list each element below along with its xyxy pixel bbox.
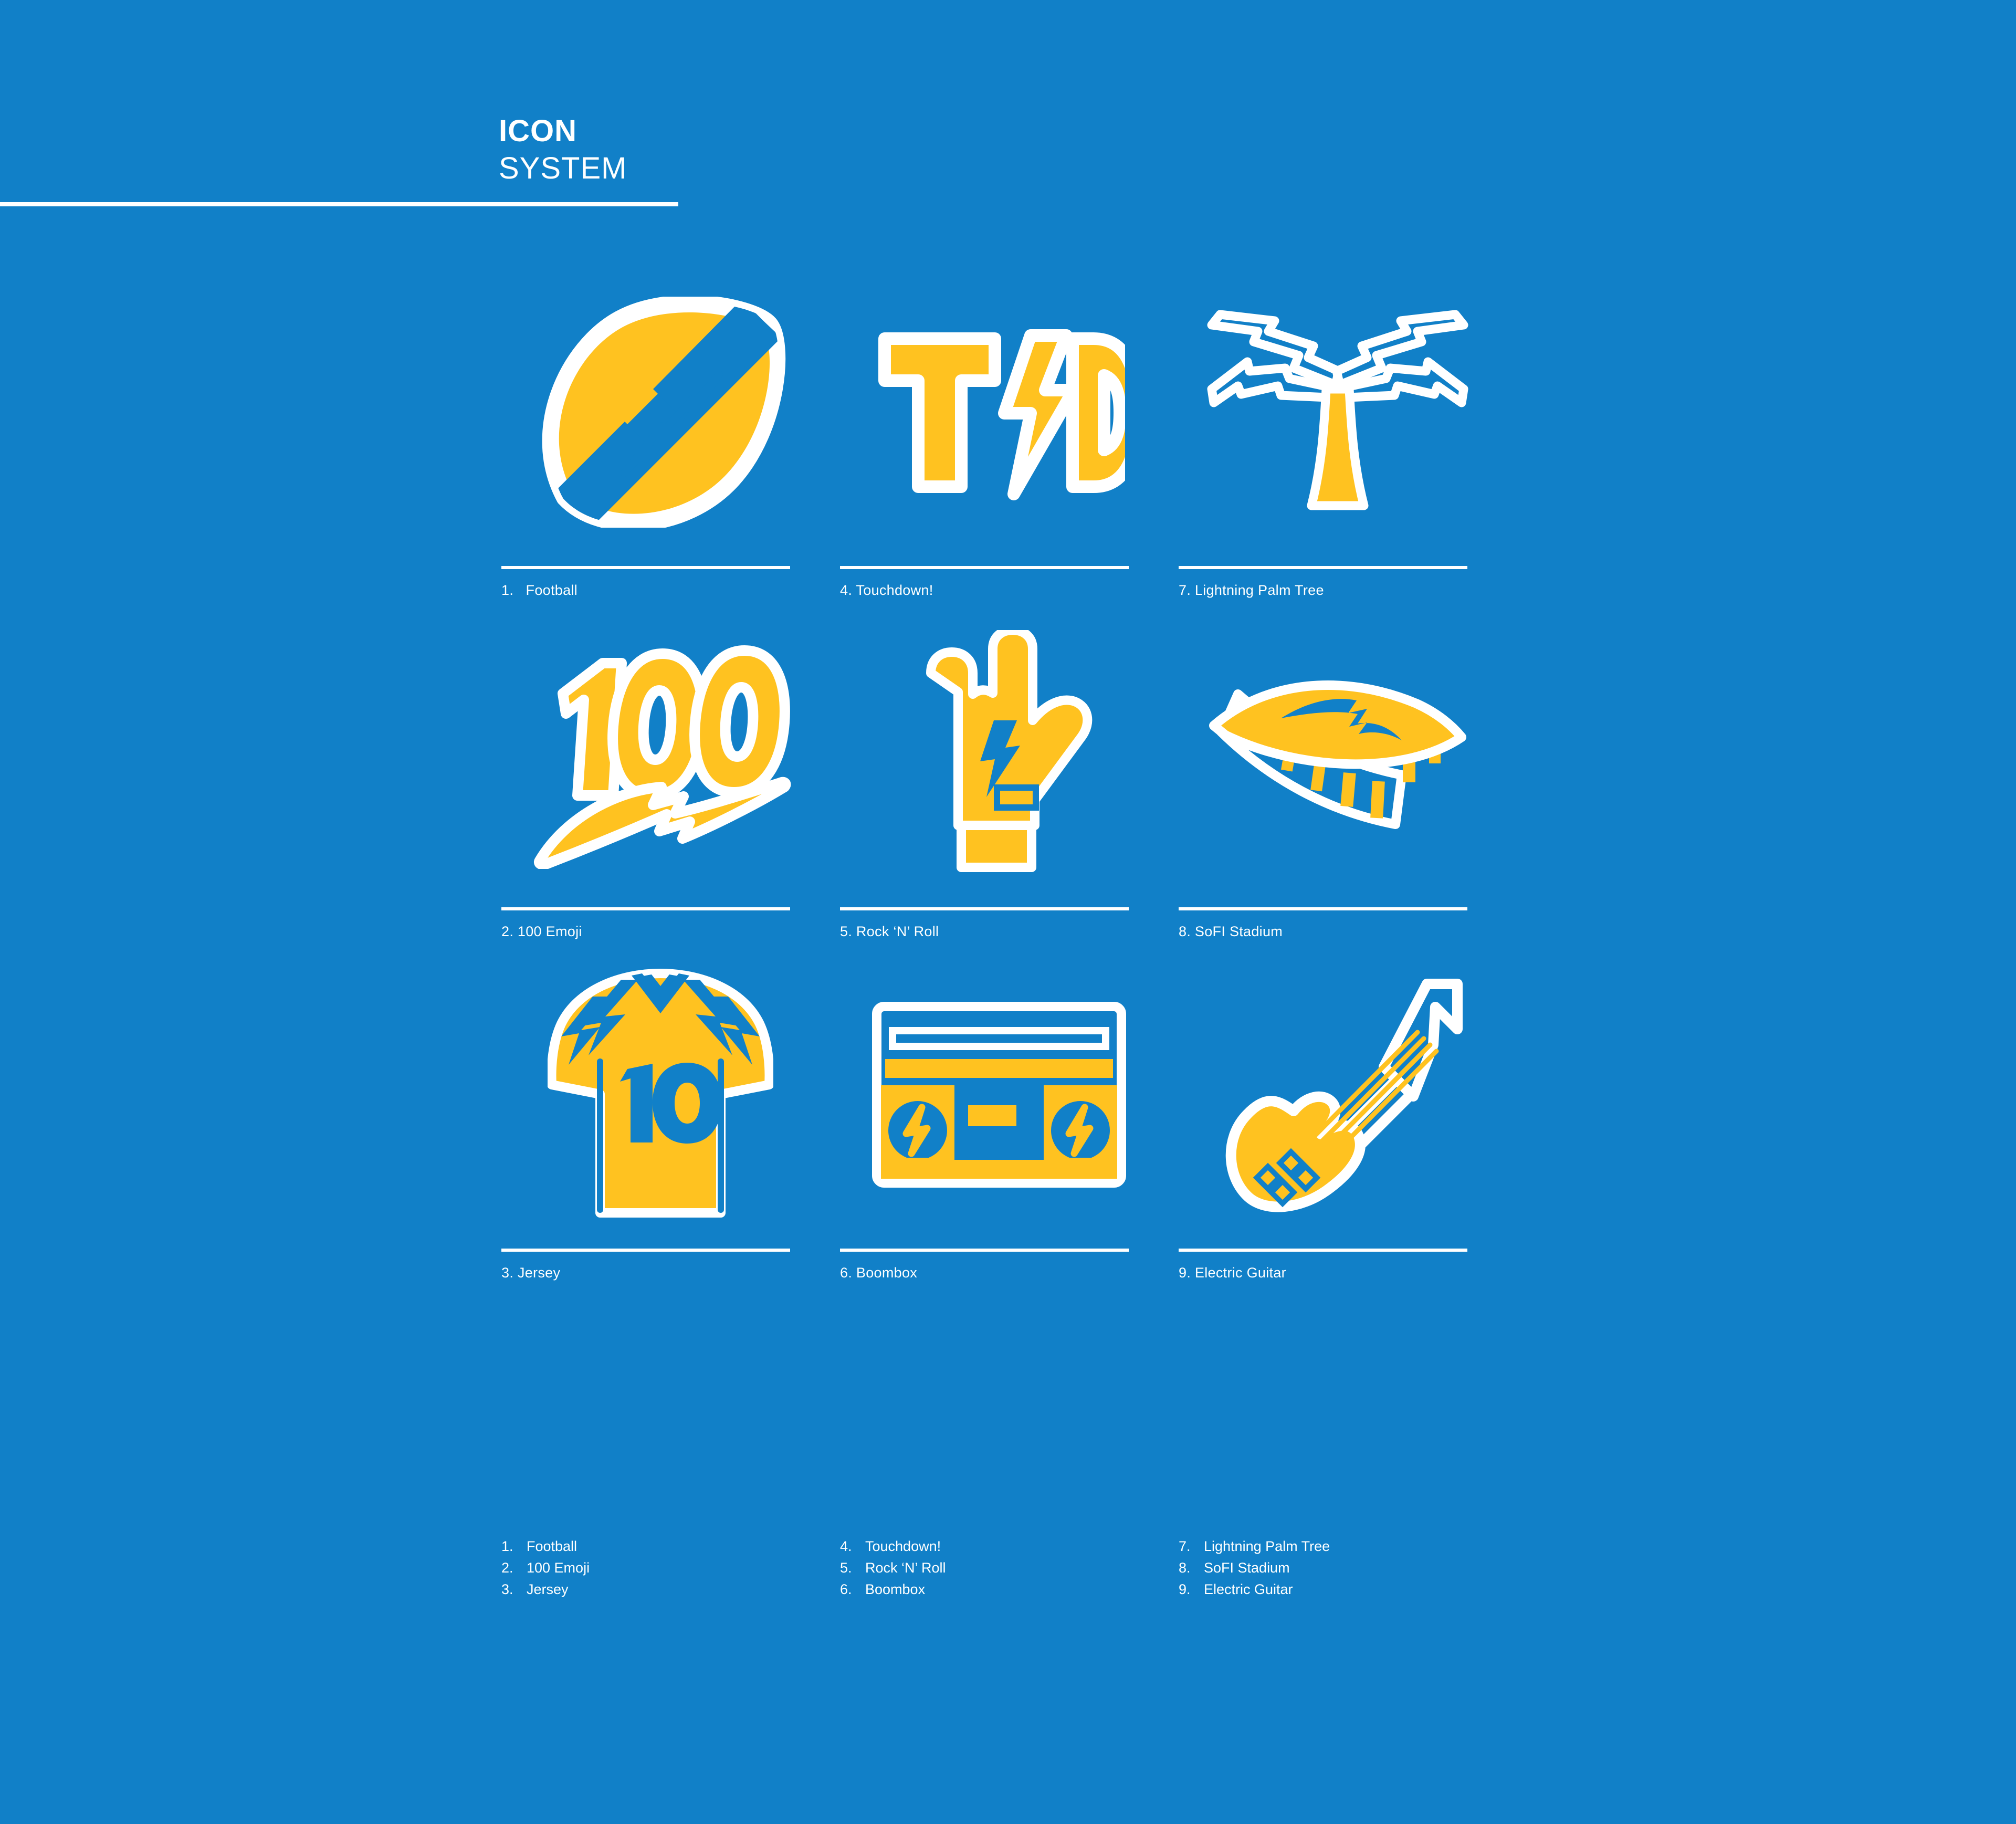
legend-number: 5. bbox=[840, 1557, 865, 1579]
legend-item: 3. Jersey bbox=[501, 1579, 840, 1600]
legend-number: 9. bbox=[1179, 1579, 1204, 1600]
legend-item: 7. Lightning Palm Tree bbox=[1179, 1536, 1517, 1557]
legend-label: Boombox bbox=[865, 1579, 1179, 1600]
icon-label-rock-n-roll: 5. Rock ‘N’ Roll bbox=[840, 924, 939, 940]
legend-label: 100 Emoji bbox=[527, 1557, 840, 1579]
legend-label: Touchdown! bbox=[865, 1536, 1179, 1557]
legend-item: 6. Boombox bbox=[840, 1579, 1179, 1600]
cell-divider bbox=[840, 566, 1129, 569]
icon-label-sofi-stadium: 8. SoFI Stadium bbox=[1179, 924, 1283, 940]
sofi-stadium-icon bbox=[1179, 614, 1496, 893]
icon-label-touchdown: 4. Touchdown! bbox=[840, 582, 933, 599]
legend-number: 4. bbox=[840, 1536, 865, 1557]
legend-number: 2. bbox=[501, 1557, 527, 1579]
legend-label: Jersey bbox=[527, 1579, 840, 1600]
header-divider bbox=[0, 202, 678, 206]
jersey-icon bbox=[501, 956, 819, 1234]
page-header: ICON SYSTEM bbox=[499, 113, 627, 187]
legend-label: Lightning Palm Tree bbox=[1204, 1536, 1517, 1557]
legend-number: 8. bbox=[1179, 1557, 1204, 1579]
icon-cell-boombox[interactable]: 6. Boombox bbox=[840, 956, 1158, 1292]
legend-number: 1. bbox=[501, 1536, 527, 1557]
cell-divider bbox=[1179, 907, 1467, 910]
cell-divider bbox=[501, 1249, 790, 1252]
legend-number: 6. bbox=[840, 1579, 865, 1600]
cell-divider bbox=[1179, 566, 1467, 569]
legend-label: SoFI Stadium bbox=[1204, 1557, 1517, 1579]
cell-divider bbox=[840, 1249, 1129, 1252]
football-icon bbox=[501, 273, 819, 551]
legend-label: Rock ‘N’ Roll bbox=[865, 1557, 1179, 1579]
boombox-icon bbox=[840, 956, 1158, 1234]
touchdown-icon bbox=[840, 273, 1158, 551]
legend-item: 9. Electric Guitar bbox=[1179, 1579, 1517, 1600]
icon-label-jersey: 3. Jersey bbox=[501, 1265, 560, 1281]
legend-number: 3. bbox=[501, 1579, 527, 1600]
icon-cell-electric-guitar[interactable]: 9. Electric Guitar bbox=[1179, 956, 1496, 1292]
cell-divider bbox=[840, 907, 1129, 910]
icon-cell-jersey[interactable]: 3. Jersey bbox=[501, 956, 819, 1292]
legend-label: Football bbox=[527, 1536, 840, 1557]
icon-cell-lightning-palm-tree[interactable]: 7. Lightning Palm Tree bbox=[1179, 273, 1496, 609]
electric-guitar-icon bbox=[1179, 956, 1496, 1234]
legend-item: 5. Rock ‘N’ Roll bbox=[840, 1557, 1179, 1579]
icon-cell-sofi-stadium[interactable]: 8. SoFI Stadium bbox=[1179, 614, 1496, 950]
icon-label-lightning-palm-tree: 7. Lightning Palm Tree bbox=[1179, 582, 1324, 599]
legend-column-3: 7. Lightning Palm Tree 8. SoFI Stadium 9… bbox=[1179, 1536, 1517, 1600]
lightning-palm-tree-icon bbox=[1179, 273, 1496, 551]
icon-cell-touchdown[interactable]: 4. Touchdown! bbox=[840, 273, 1158, 609]
rock-n-roll-hand-icon bbox=[840, 614, 1158, 893]
legend-label: Electric Guitar bbox=[1204, 1579, 1517, 1600]
icon-cell-rock-n-roll[interactable]: 5. Rock ‘N’ Roll bbox=[840, 614, 1158, 950]
icon-label-football: 1. Football bbox=[501, 582, 577, 599]
legend: 1. Football 2. 100 Emoji 3. Jersey 4. To… bbox=[501, 1536, 1517, 1600]
icon-cell-100-emoji[interactable]: 2. 100 Emoji bbox=[501, 614, 819, 950]
legend-item: 8. SoFI Stadium bbox=[1179, 1557, 1517, 1579]
page-title-system: SYSTEM bbox=[499, 150, 627, 187]
page-title-icon: ICON bbox=[499, 113, 627, 150]
icon-grid: 1. Football 4. Touchdown! bbox=[501, 273, 1496, 1292]
icon-system-page: ICON SYSTEM bbox=[0, 0, 2016, 1824]
legend-item: 4. Touchdown! bbox=[840, 1536, 1179, 1557]
legend-number: 7. bbox=[1179, 1536, 1204, 1557]
icon-label-boombox: 6. Boombox bbox=[840, 1265, 917, 1281]
icon-cell-football[interactable]: 1. Football bbox=[501, 273, 819, 609]
legend-item: 2. 100 Emoji bbox=[501, 1557, 840, 1579]
cell-divider bbox=[1179, 1249, 1467, 1252]
legend-column-1: 1. Football 2. 100 Emoji 3. Jersey bbox=[501, 1536, 840, 1600]
cell-divider bbox=[501, 566, 790, 569]
legend-item: 1. Football bbox=[501, 1536, 840, 1557]
icon-label-100-emoji: 2. 100 Emoji bbox=[501, 924, 582, 940]
legend-column-2: 4. Touchdown! 5. Rock ‘N’ Roll 6. Boombo… bbox=[840, 1536, 1179, 1600]
icon-label-electric-guitar: 9. Electric Guitar bbox=[1179, 1265, 1286, 1281]
hundred-emoji-icon bbox=[501, 614, 819, 893]
cell-divider bbox=[501, 907, 790, 910]
